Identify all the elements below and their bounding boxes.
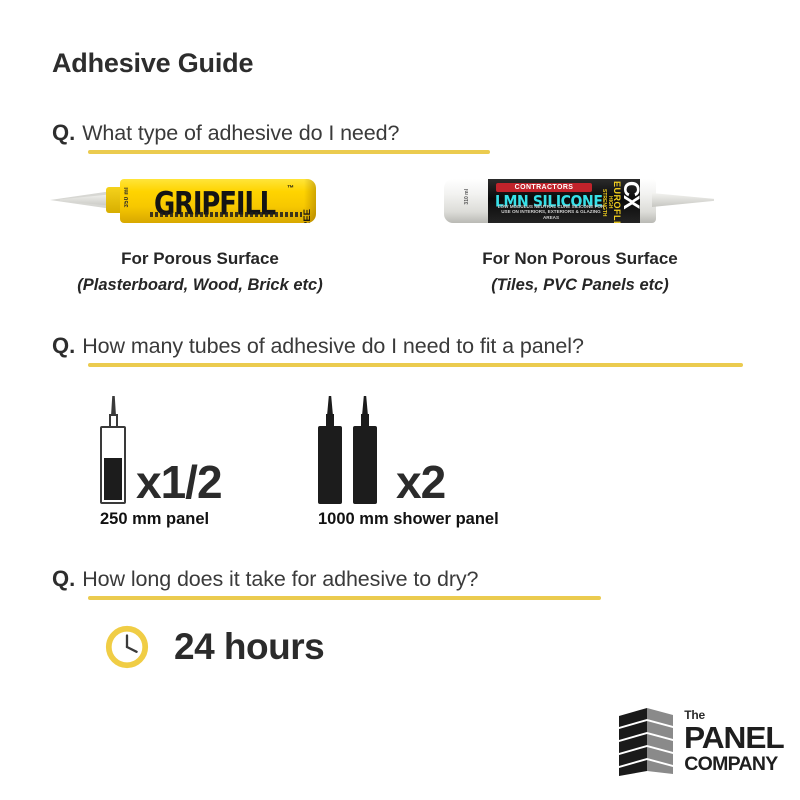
product-non-porous: 310 ml CONTRACTORS LMN SILICONE LOW MODU… xyxy=(400,175,760,295)
question-block-3: Q. How long does it take for adhesive to… xyxy=(52,566,601,600)
quantity-250mm-multiplier: x1/2 xyxy=(136,460,222,504)
silicone-tube-image: 310 ml CONTRACTORS LMN SILICONE LOW MODU… xyxy=(430,175,730,237)
silicone-banner-text: CONTRACTORS xyxy=(496,183,592,192)
clock-icon xyxy=(104,624,150,670)
tube-body-solid xyxy=(353,426,377,504)
question-1-marker: Q. xyxy=(52,120,75,146)
drying-answer-row: 24 hours xyxy=(104,624,324,670)
question-2-underline xyxy=(88,363,743,367)
adhesive-guide-page: Adhesive Guide Q. What type of adhesive … xyxy=(0,0,800,800)
tube-pair-icon xyxy=(318,396,388,504)
logo-panel-text: PANEL xyxy=(684,722,784,753)
gripfill-tube-image: 350 ml GRIPFILL ™ SOLVENT FREE xyxy=(50,175,350,237)
gripfill-trademark: ™ xyxy=(287,185,294,192)
silicone-label-panel: CONTRACTORS LMN SILICONE LOW MODULUS NEU… xyxy=(488,179,640,223)
quantity-250mm-graphic: x1/2 xyxy=(100,396,222,504)
gripfill-body: 350 ml GRIPFILL ™ SOLVENT FREE xyxy=(120,179,316,223)
question-1-line: Q. What type of adhesive do I need? xyxy=(52,120,490,146)
tube-body-outline xyxy=(100,426,126,504)
silicone-nozzle-icon xyxy=(652,193,714,207)
tube-body-solid xyxy=(318,426,342,504)
logo-company-text: COMPANY xyxy=(684,755,782,775)
gripfill-tagline: SOLVENT FREE xyxy=(303,209,313,223)
page-title: Adhesive Guide xyxy=(52,48,253,79)
tube-solid-icon-1 xyxy=(318,396,344,504)
drying-answer-text: 24 hours xyxy=(174,626,324,668)
porous-caption-sub: (Plasterboard, Wood, Brick etc) xyxy=(20,276,380,295)
gripfill-side-text: 350 ml xyxy=(124,187,130,207)
logo-wordmark: The PANEL COMPANY xyxy=(684,709,782,775)
quantity-1000mm-multiplier: x2 xyxy=(396,460,445,504)
gripfill-strip-text xyxy=(150,212,302,217)
question-1-text: What type of adhesive do I need? xyxy=(82,121,399,146)
company-logo: The PANEL COMPANY xyxy=(617,706,782,778)
question-3-marker: Q. xyxy=(52,566,75,592)
panel-stack-icon xyxy=(617,706,675,778)
question-2-text: How many tubes of adhesive do I need to … xyxy=(82,334,584,359)
tube-half-icon xyxy=(100,396,128,504)
silicone-description: LOW MODULUS NEUTRAL CURE SILICONE FOR US… xyxy=(496,204,606,220)
non-porous-caption-main: For Non Porous Surface xyxy=(400,249,760,269)
question-block-1: Q. What type of adhesive do I need? xyxy=(52,120,490,154)
silicone-side-text: 310 ml xyxy=(464,189,470,205)
tube-tip-icon xyxy=(111,396,116,416)
quantity-250mm-label: 250 mm panel xyxy=(100,510,222,529)
question-block-2: Q. How many tubes of adhesive do I need … xyxy=(52,333,743,367)
question-2-marker: Q. xyxy=(52,333,75,359)
porous-caption-main: For Porous Surface xyxy=(20,249,380,269)
quantity-group-1000mm: x2 1000 mm shower panel xyxy=(318,396,499,529)
silicone-sub-brand-mark: CX xyxy=(623,181,639,208)
question-1-underline xyxy=(88,150,490,154)
tube-tip-icon xyxy=(362,396,368,416)
tube-solid-icon-2 xyxy=(353,396,379,504)
question-3-underline xyxy=(88,596,601,600)
product-porous: 350 ml GRIPFILL ™ SOLVENT FREE For Porou… xyxy=(20,175,380,295)
question-3-text: How long does it take for adhesive to dr… xyxy=(82,567,478,592)
non-porous-caption-sub: (Tiles, PVC Panels etc) xyxy=(400,276,760,295)
quantity-1000mm-graphic: x2 xyxy=(318,396,499,504)
adhesive-products-row: 350 ml GRIPFILL ™ SOLVENT FREE For Porou… xyxy=(0,175,800,295)
tube-fill-half xyxy=(104,458,122,500)
gripfill-brand-text: GRIPFILL xyxy=(154,186,275,223)
quantity-group-250mm: x1/2 250 mm panel xyxy=(100,396,222,529)
question-3-line: Q. How long does it take for adhesive to… xyxy=(52,566,601,592)
quantity-row: x1/2 250 mm panel x2 xyxy=(0,396,800,536)
silicone-body: 310 ml CONTRACTORS LMN SILICONE LOW MODU… xyxy=(444,179,656,223)
quantity-1000mm-label: 1000 mm shower panel xyxy=(318,510,499,529)
question-2-line: Q. How many tubes of adhesive do I need … xyxy=(52,333,743,359)
tube-tip-icon xyxy=(327,396,333,416)
